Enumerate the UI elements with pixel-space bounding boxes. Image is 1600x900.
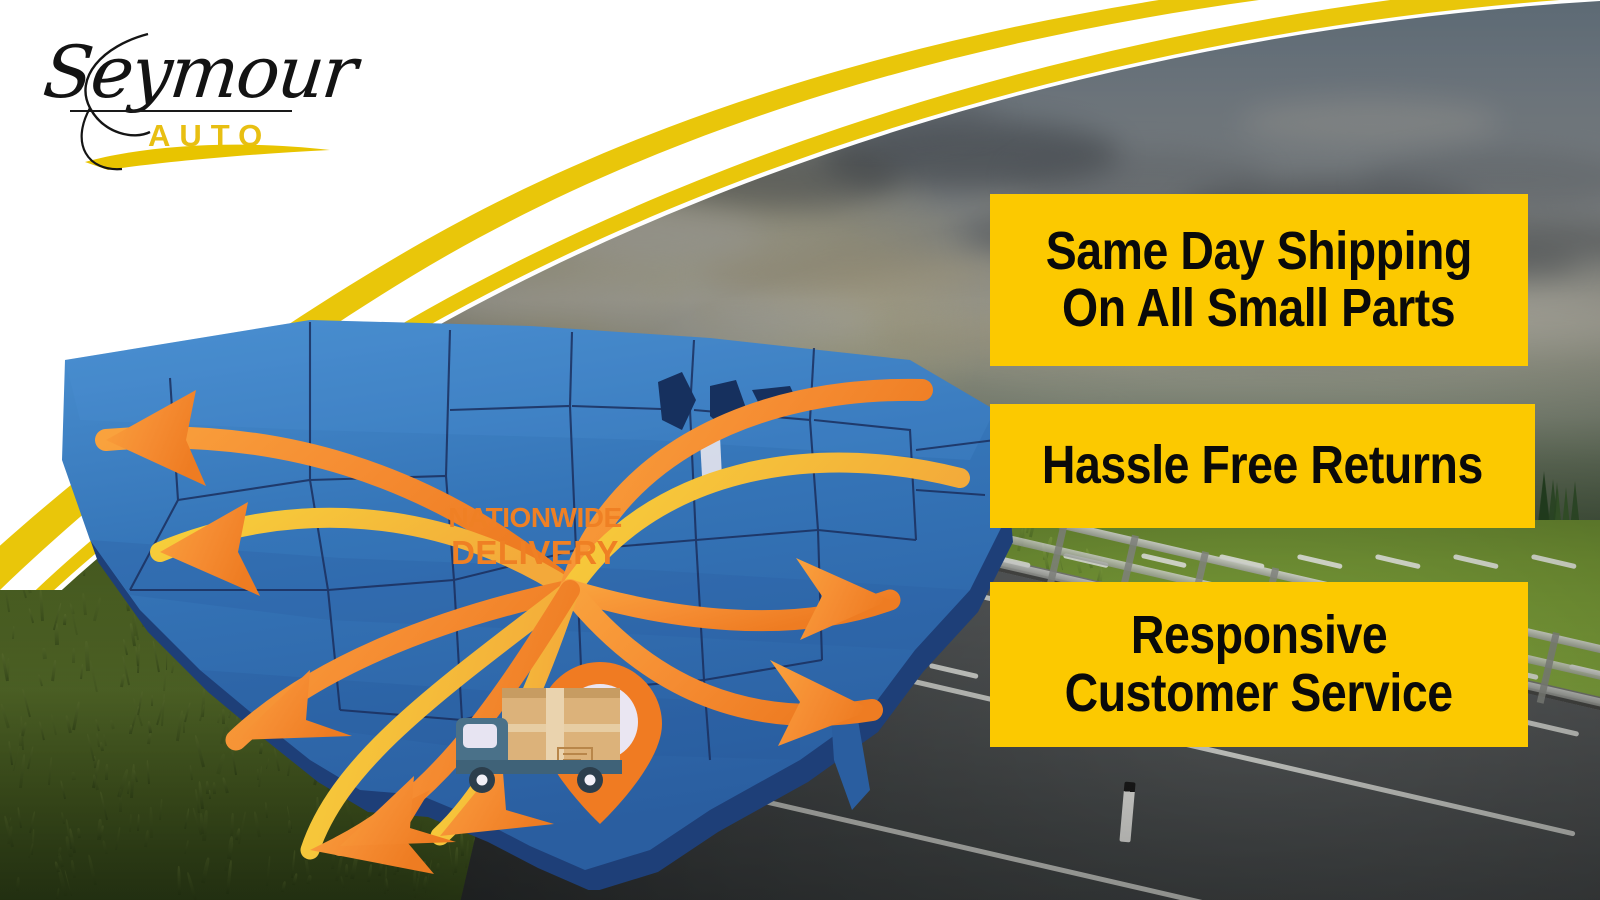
logo-swoosh-icon bbox=[30, 22, 340, 172]
banner-hassle-free-returns[interactable]: Hassle Free Returns bbox=[990, 404, 1535, 528]
banner1-line2: On All Small Parts bbox=[1062, 280, 1455, 337]
usa-map-graphic bbox=[10, 290, 1070, 890]
grass-blade bbox=[0, 703, 10, 728]
banner2-line1: Hassle Free Returns bbox=[1042, 437, 1483, 494]
nationwide-delivery-label: NATIONWIDE DELIVERY bbox=[420, 390, 650, 580]
cardboard-box-icon bbox=[502, 688, 620, 772]
delivery-label: DELIVERY bbox=[420, 534, 650, 572]
banner3-line2: Customer Service bbox=[1065, 665, 1453, 722]
banner-same-day-shipping[interactable]: Same Day Shipping On All Small Parts bbox=[990, 194, 1528, 366]
brand-logo[interactable]: Seymour AUTO bbox=[30, 22, 340, 172]
banner3-line1: Responsive bbox=[1131, 607, 1387, 664]
nationwide-label: NATIONWIDE bbox=[420, 502, 650, 534]
promo-banner-stage: Seymour AUTO bbox=[0, 0, 1600, 900]
banner1-line1: Same Day Shipping bbox=[1046, 223, 1472, 280]
grass-blade bbox=[7, 658, 9, 679]
banner-responsive-customer-service[interactable]: Responsive Customer Service bbox=[990, 582, 1528, 747]
